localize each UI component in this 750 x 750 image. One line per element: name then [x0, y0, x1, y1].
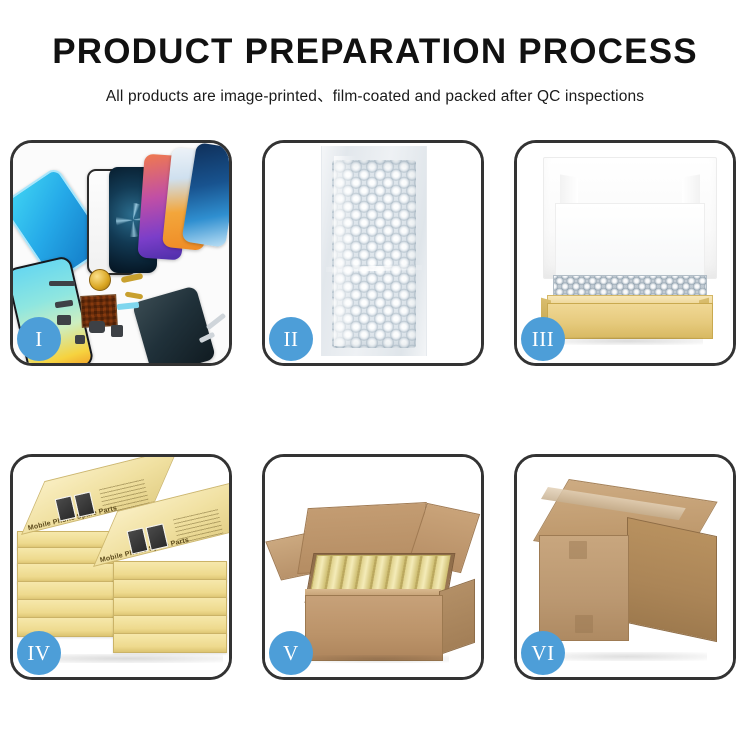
stacked-box-edge: [17, 581, 115, 601]
stacked-box-edge: [17, 599, 115, 619]
button-part-icon: [57, 315, 71, 325]
stacked-box-edge: [17, 563, 115, 583]
step-badge-1: I: [17, 317, 61, 361]
process-step-panel-3[interactable]: III: [514, 140, 736, 366]
page-subtitle: All products are image-printed、film-coat…: [0, 84, 750, 106]
stacked-box-edge: [113, 633, 227, 653]
stacked-box-edge: [113, 579, 227, 599]
stacked-box-edge: [113, 597, 227, 617]
step-badge-5: V: [269, 631, 313, 675]
bubble-wrap-sleeve-icon: [321, 146, 427, 356]
process-step-panel-6[interactable]: VI: [514, 454, 736, 680]
carton-flap-tab-upper: [569, 541, 587, 559]
stacked-box-edge: [113, 615, 227, 635]
bubble-wrap-texture: [332, 160, 416, 348]
stacked-box-edge: [113, 561, 227, 581]
flex-cable-small-icon: [125, 291, 144, 299]
phone-back-housing-icon: [132, 285, 216, 363]
vibrator-icon: [111, 325, 123, 337]
camera-module-icon: [89, 321, 105, 333]
product-preparation-process-page: PRODUCT PREPARATION PROCESS All products…: [0, 0, 750, 750]
mailer-tray-front: [547, 303, 713, 339]
header: PRODUCT PREPARATION PROCESS All products…: [0, 0, 750, 106]
speaker-module-icon: [89, 269, 111, 291]
carton-shadow: [309, 655, 449, 663]
carton-side-face: [439, 579, 475, 655]
sealed-carton-side-face: [627, 517, 717, 642]
page-title: PRODUCT PREPARATION PROCESS: [0, 34, 750, 71]
step-badge-3: III: [521, 317, 565, 361]
process-step-panel-5[interactable]: V: [262, 454, 484, 680]
screwdriver-icon: [206, 313, 226, 330]
foam-sheet-icon: [555, 203, 705, 279]
screw-set-icon: [75, 335, 85, 344]
step-badge-4: IV: [17, 631, 61, 675]
step-badge-6: VI: [521, 631, 565, 675]
step-badge-2: II: [269, 317, 313, 361]
process-step-panel-2[interactable]: II: [262, 140, 484, 366]
carton-flap-tab-lower: [575, 615, 593, 633]
process-step-panel-4[interactable]: Mobile Phone Spare Parts Mobile Phone Sp…: [10, 454, 232, 680]
process-step-grid: I II: [10, 140, 740, 690]
process-step-panel-1[interactable]: I: [10, 140, 232, 366]
sealed-carton-shadow: [547, 652, 707, 661]
carton-front-face: [305, 595, 443, 661]
mailer-shadow: [553, 337, 703, 345]
part-strip-icon: [49, 281, 75, 286]
